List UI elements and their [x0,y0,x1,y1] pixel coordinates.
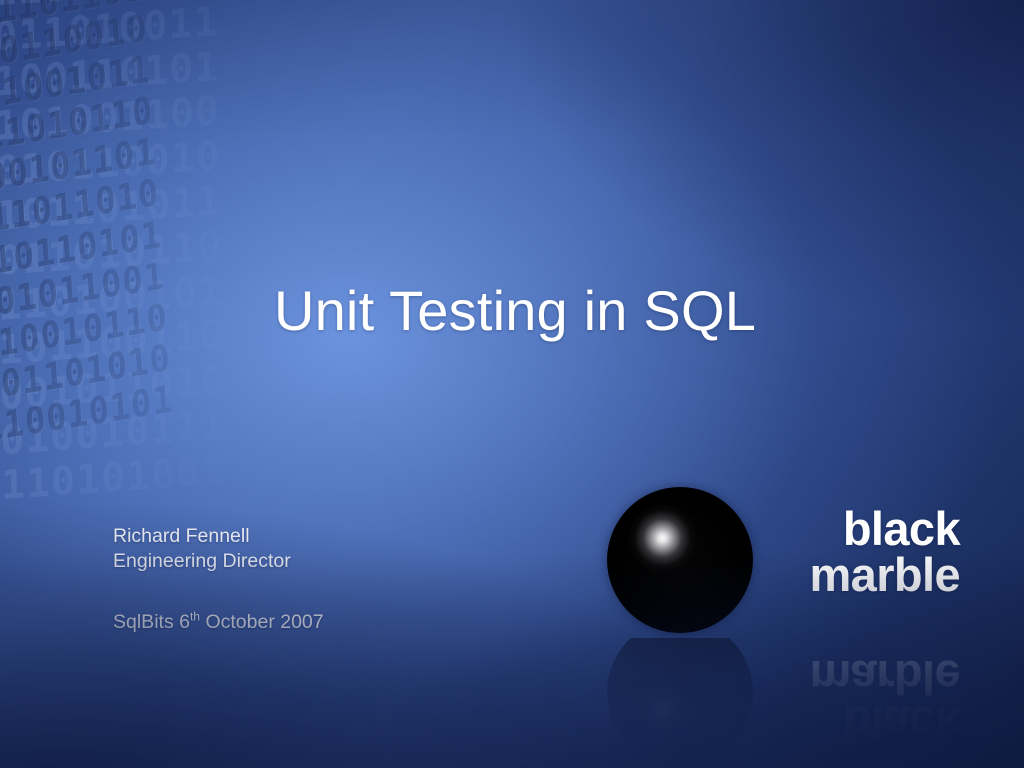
presenter-role: Engineering Director [113,549,324,574]
logo-wordmark-reflection: black marble [754,654,960,746]
event-prefix: SqlBits 6 [113,611,190,633]
binary-row: 010110011010 [0,0,304,7]
logo-line-black: black [754,506,960,552]
binary-row: 00101101011 [0,169,312,243]
logo-line-marble-reflection: marble [754,654,960,700]
binary-row: 01101001100 [0,79,312,153]
binary-row: 101100101101 [0,106,312,213]
marble-sphere-icon [607,487,753,633]
logo-line-marble: marble [754,552,960,598]
binary-row: 110110010101 [0,353,312,460]
binary-row: 11010010111 [0,393,312,467]
binary-row: 11010110010 [0,124,312,198]
binary-row: 010011011010 [0,147,312,254]
binary-row: 101001101101 [0,0,307,48]
logo-wordmark: black marble [754,506,960,598]
presentation-slide: 10110101001 01011010011 10100110101 0110… [0,0,1024,768]
subtitle-spacer [113,574,324,610]
slide-title: Unit Testing in SQL [120,278,910,343]
binary-decoration-front-layer: 010110011010 101001101101 011010110010 1… [0,0,312,460]
event-ordinal-suffix: th [190,610,200,624]
logo-line-black-reflection: black [754,700,960,746]
binary-row: 001011010110 [0,65,312,172]
binary-row: 011010110010 [0,0,309,90]
black-marble-logo: black marble [604,486,964,636]
binary-decoration-back-layer: 10110101001 01011010011 10100110101 0110… [0,0,312,512]
binary-row: 10100110101 [0,34,312,108]
binary-row: 10110101001 [0,0,312,19]
reflection-inner: black marble [604,638,964,766]
binary-digits-decoration: 10110101001 01011010011 10100110101 0110… [0,0,312,526]
presenter-name: Richard Fennell [113,524,324,549]
black-marble-logo-reflection: black marble [604,638,964,766]
binary-row: 00110101001 [0,438,312,512]
slide-subtitle: Richard Fennell Engineering Director Sql… [113,524,324,635]
binary-row: 01011010011 [0,0,312,64]
binary-row: 10011010110 [0,214,312,288]
binary-row: 01001011010 [0,348,312,422]
marble-sphere-reflection-icon [607,638,753,765]
event-suffix: October 2007 [200,611,324,633]
event-line: SqlBits 6th October 2007 [113,610,324,635]
binary-row: 110101001011 [0,24,312,131]
